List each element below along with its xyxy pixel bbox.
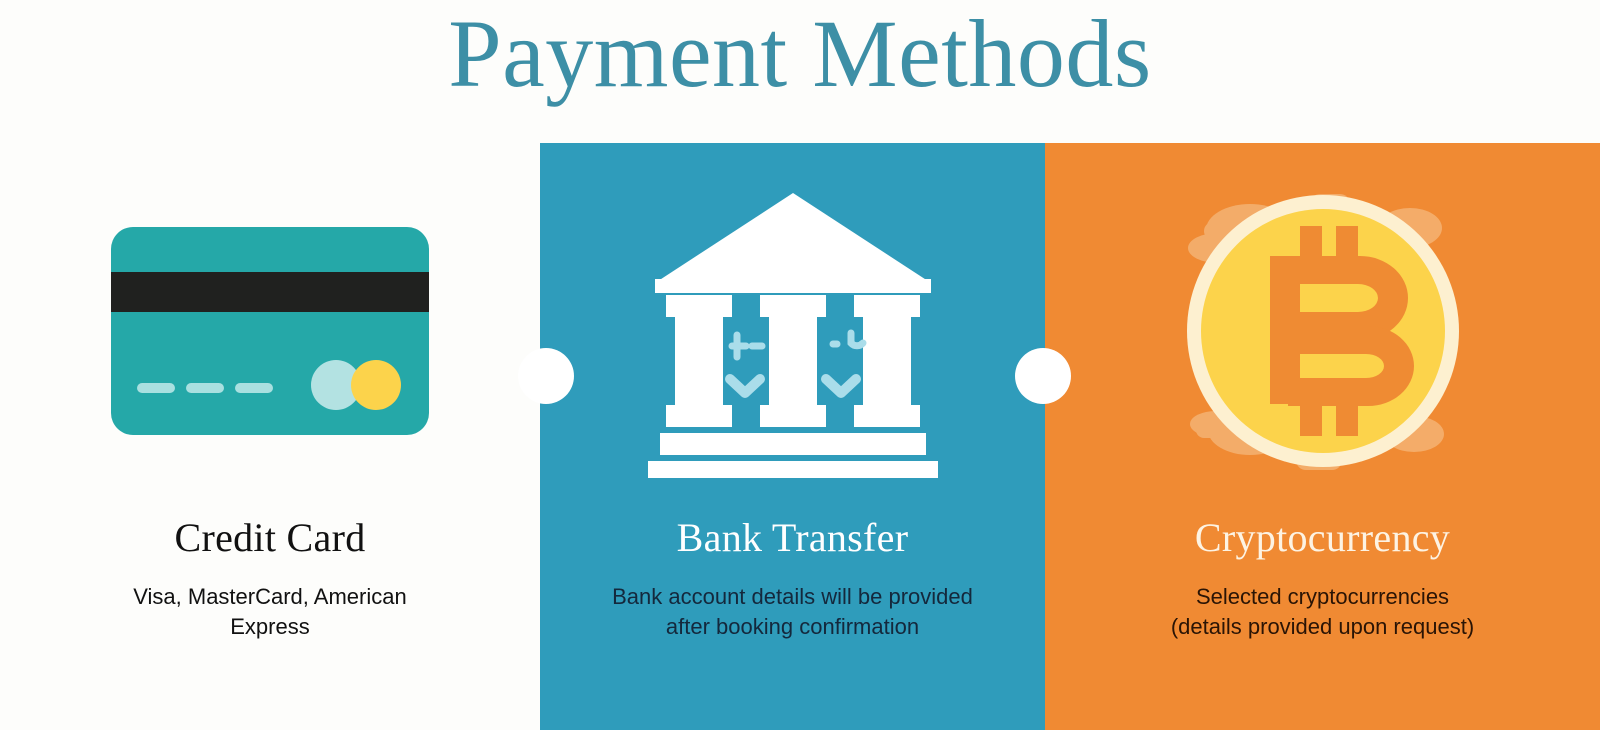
method-title-credit-card: Credit Card xyxy=(174,518,365,558)
method-credit-card[interactable]: Credit Card Visa, MasterCard, American E… xyxy=(0,143,540,730)
card-dash xyxy=(186,383,224,393)
bitcoin-coin-icon xyxy=(1178,186,1468,476)
card-dash xyxy=(137,383,175,393)
bank-icon-wrap xyxy=(540,143,1045,518)
card-logo-circle-right xyxy=(351,360,401,410)
method-description-cryptocurrency: Selected cryptocurrencies (details provi… xyxy=(1158,582,1488,641)
method-bank-transfer[interactable]: Bank Transfer Bank account details will … xyxy=(540,143,1045,730)
method-title-cryptocurrency: Cryptocurrency xyxy=(1195,518,1450,558)
card-magnetic-stripe xyxy=(111,272,429,312)
credit-card-icon-wrap xyxy=(0,143,540,518)
method-description-credit-card: Visa, MasterCard, American Express xyxy=(120,582,420,641)
payment-methods-infographic: Payment Methods Credit Card Visa, Master… xyxy=(0,0,1600,730)
card-number-dashes xyxy=(137,383,273,393)
method-description-bank-transfer: Bank account details will be provided af… xyxy=(603,582,983,641)
card-dash xyxy=(235,383,273,393)
bitcoin-icon-wrap xyxy=(1045,143,1600,518)
method-title-bank-transfer: Bank Transfer xyxy=(677,518,909,558)
credit-card-icon xyxy=(111,227,429,435)
bank-building-icon xyxy=(648,183,938,478)
method-cryptocurrency[interactable]: Cryptocurrency Selected cryptocurrencies… xyxy=(1045,143,1600,730)
page-title: Payment Methods xyxy=(0,2,1600,106)
connector-left-circle xyxy=(518,348,574,404)
connector-mid-circle xyxy=(1015,348,1071,404)
